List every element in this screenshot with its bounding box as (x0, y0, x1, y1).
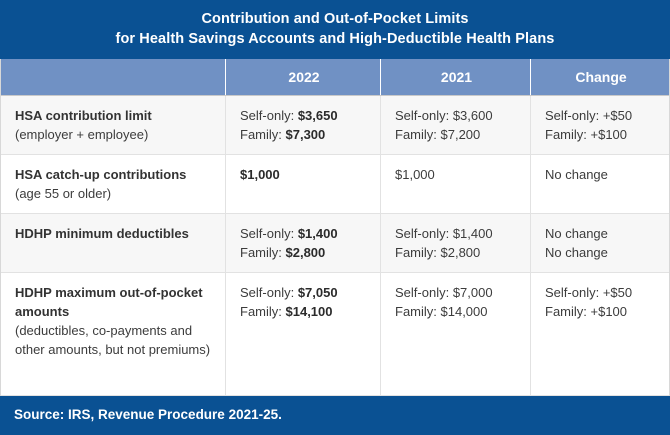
cell-2022: Self-only: $7,050 Family: $14,100 (226, 273, 381, 395)
value-prefix: Family: (395, 304, 441, 319)
value-amount: $3,600 (453, 108, 493, 123)
value-amount: $1,000 (395, 167, 435, 182)
value-prefix: Self-only: (395, 226, 453, 241)
value-amount: +$100 (591, 304, 628, 319)
row-label: HDHP maximum out-of-pocket amounts (15, 283, 213, 321)
value-amount: $2,800 (441, 245, 481, 260)
value-line: $1,000 (240, 165, 368, 184)
value-line: Self-only: $3,650 (240, 106, 368, 125)
value-line: Family: $14,100 (240, 302, 368, 321)
value-line: Family: $14,000 (395, 302, 518, 321)
value-line: Self-only: $7,000 (395, 283, 518, 302)
value-line: Self-only: $3,600 (395, 106, 518, 125)
value-amount: +$100 (591, 127, 628, 142)
column-header-2021: 2021 (381, 59, 531, 95)
value-line: Family: $2,800 (240, 243, 368, 262)
value-amount: $1,400 (298, 226, 338, 241)
table-grid: 2022 2021 Change HSA contribution limit … (0, 59, 670, 396)
value-prefix: Family: (395, 245, 441, 260)
hsa-limits-table-card: Contribution and Out-of-Pocket Limits fo… (0, 0, 670, 435)
value-prefix: Family: (240, 127, 286, 142)
value-amount: $7,300 (286, 127, 326, 142)
value-prefix: Self-only: (240, 108, 298, 123)
row-sublabel: (employer + employee) (15, 125, 213, 144)
row-label: HSA contribution limit (15, 106, 213, 125)
value-amount: +$50 (603, 108, 632, 123)
column-header-item (1, 59, 226, 95)
table-header-row: 2022 2021 Change (1, 59, 669, 96)
row-label-cell: HDHP minimum deductibles (1, 214, 226, 272)
value-line: Family: $7,200 (395, 125, 518, 144)
row-label: HSA catch-up contributions (15, 165, 213, 184)
cell-2022: Self-only: $3,650 Family: $7,300 (226, 96, 381, 154)
cell-2021: Self-only: $1,400 Family: $2,800 (381, 214, 531, 272)
cell-2021: Self-only: $3,600 Family: $7,200 (381, 96, 531, 154)
table-row: HSA catch-up contributions (age 55 or ol… (1, 155, 669, 214)
value-prefix: Self-only: (545, 285, 603, 300)
table-row: HDHP minimum deductibles Self-only: $1,4… (1, 214, 669, 273)
value-amount: $3,650 (298, 108, 338, 123)
value-amount: No change (545, 226, 608, 241)
value-prefix: Self-only: (395, 285, 453, 300)
cell-2022: $1,000 (226, 155, 381, 213)
value-prefix: Self-only: (240, 285, 298, 300)
row-label-cell: HSA contribution limit (employer + emplo… (1, 96, 226, 154)
cell-2021: Self-only: $7,000 Family: $14,000 (381, 273, 531, 395)
cell-2022: Self-only: $1,400 Family: $2,800 (226, 214, 381, 272)
value-line: Family: $2,800 (395, 243, 518, 262)
cell-change: Self-only: +$50 Family: +$100 (531, 273, 669, 395)
value-prefix: Family: (545, 304, 591, 319)
value-prefix: Family: (240, 304, 286, 319)
value-prefix: Family: (545, 127, 591, 142)
row-sublabel: (age 55 or older) (15, 184, 213, 203)
row-label-cell: HDHP maximum out-of-pocket amounts (dedu… (1, 273, 226, 395)
cell-change: Self-only: +$50 Family: +$100 (531, 96, 669, 154)
value-amount: $7,000 (453, 285, 493, 300)
value-amount: $14,000 (441, 304, 488, 319)
column-header-change: Change (531, 59, 669, 95)
column-header-2022: 2022 (226, 59, 381, 95)
value-line: No change (545, 224, 657, 243)
value-amount: $2,800 (286, 245, 326, 260)
value-prefix: Self-only: (240, 226, 298, 241)
value-prefix: Self-only: (545, 108, 603, 123)
value-line: Self-only: $7,050 (240, 283, 368, 302)
row-label-cell: HSA catch-up contributions (age 55 or ol… (1, 155, 226, 213)
value-line: Self-only: $1,400 (240, 224, 368, 243)
source-footer: Source: IRS, Revenue Procedure 2021-25. (0, 396, 670, 435)
value-prefix: Self-only: (395, 108, 453, 123)
cell-change: No change (531, 155, 669, 213)
row-sublabel: (deductibles, co-payments and other amou… (15, 321, 213, 359)
value-line: Family: $7,300 (240, 125, 368, 144)
value-amount: $7,200 (441, 127, 481, 142)
value-amount: $1,000 (240, 167, 280, 182)
value-amount: +$50 (603, 285, 632, 300)
value-prefix: Family: (395, 127, 441, 142)
cell-change: No change No change (531, 214, 669, 272)
table-title-line-1: Contribution and Out-of-Pocket Limits (10, 9, 660, 29)
cell-2021: $1,000 (381, 155, 531, 213)
table-row: HSA contribution limit (employer + emplo… (1, 96, 669, 155)
value-line: No change (545, 243, 657, 262)
value-line: Family: +$100 (545, 125, 657, 144)
value-line: No change (545, 165, 657, 184)
value-amount: No change (545, 245, 608, 260)
table-title-band: Contribution and Out-of-Pocket Limits fo… (0, 0, 670, 59)
table-row: HDHP maximum out-of-pocket amounts (dedu… (1, 273, 669, 396)
value-amount: $14,100 (286, 304, 333, 319)
value-prefix: Family: (240, 245, 286, 260)
value-line: Self-only: $1,400 (395, 224, 518, 243)
row-label: HDHP minimum deductibles (15, 224, 213, 243)
value-line: Self-only: +$50 (545, 283, 657, 302)
value-amount: $1,400 (453, 226, 493, 241)
value-amount: No change (545, 167, 608, 182)
value-line: Self-only: +$50 (545, 106, 657, 125)
value-line: Family: +$100 (545, 302, 657, 321)
value-line: $1,000 (395, 165, 518, 184)
table-title-line-2: for Health Savings Accounts and High-Ded… (10, 29, 660, 49)
value-amount: $7,050 (298, 285, 338, 300)
